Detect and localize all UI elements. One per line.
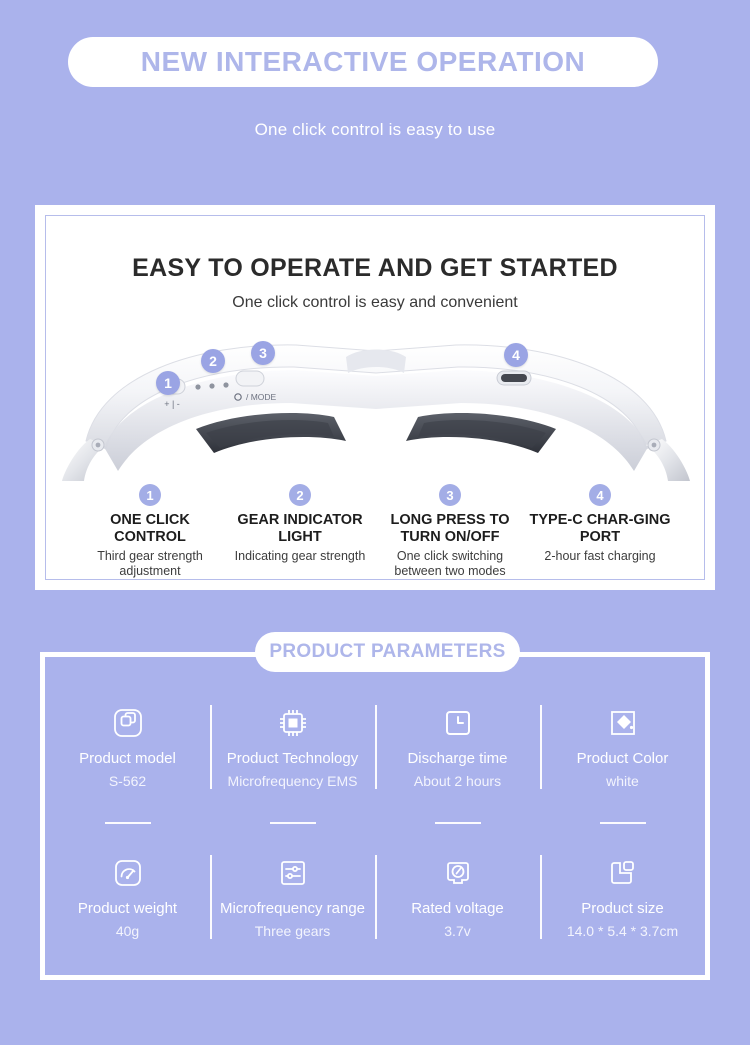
feature-item-one-click-control: 1 ONE CLICK CONTROL Third gear strength … (75, 484, 225, 579)
param-value-product-model: S-562 (109, 773, 146, 789)
param-product-weight: Product weight 40g (45, 822, 210, 972)
param-value-microfrequency-range: Three gears (255, 923, 330, 939)
device-callout-3: 3 (251, 341, 275, 365)
device-illustration: + | - / MODE 1 2 3 4 (46, 321, 704, 481)
feature-card-subtitle: One click control is easy and convenient (46, 294, 704, 312)
feature-item-type-c-port: 4 TYPE-C CHAR-GING PORT 2-hour fast char… (525, 484, 675, 579)
sliders-icon (276, 856, 310, 890)
feature-badge-1: 1 (139, 484, 161, 506)
param-divider-vertical (540, 855, 542, 939)
param-label-discharge-time: Discharge time (407, 750, 507, 767)
param-value-rated-voltage: 3.7v (444, 923, 470, 939)
feature-badge-3: 3 (439, 484, 461, 506)
page-subtitle: One click control is easy to use (0, 120, 750, 140)
feature-title-4: TYPE-C CHAR-GING PORT (525, 512, 675, 545)
feature-desc-3: One click switching between two modes (375, 549, 525, 579)
feature-desc-2: Indicating gear strength (225, 549, 375, 564)
svg-text:+ | -: + | - (164, 399, 180, 409)
param-label-product-color: Product Color (577, 750, 669, 767)
feature-card-title: EASY TO OPERATE AND GET STARTED (46, 254, 704, 283)
copy-layers-icon (111, 706, 145, 740)
param-value-product-technology: Microfrequency EMS (228, 773, 358, 789)
feature-title-2: GEAR INDICATOR LIGHT (225, 512, 375, 545)
param-value-product-weight: 40g (116, 923, 139, 939)
param-divider-vertical (375, 855, 377, 939)
param-value-product-size: 14.0 * 5.4 * 3.7cm (567, 923, 678, 939)
param-discharge-time: Discharge time About 2 hours (375, 672, 540, 822)
param-product-size: Product size 14.0 * 5.4 * 3.7cm (540, 822, 705, 972)
product-parameters-banner: PRODUCT PARAMETERS (255, 632, 520, 672)
feature-desc-4: 2-hour fast charging (525, 549, 675, 564)
device-callout-4: 4 (504, 343, 528, 367)
param-label-product-weight: Product weight (78, 900, 177, 917)
feature-title-1: ONE CLICK CONTROL (75, 512, 225, 545)
cpu-chip-icon (276, 706, 310, 740)
feature-item-long-press-power: 3 LONG PRESS TO TURN ON/OFF One click sw… (375, 484, 525, 579)
param-label-product-technology: Product Technology (227, 750, 358, 767)
device-callout-2: 2 (201, 349, 225, 373)
paint-bucket-icon (606, 706, 640, 740)
device-callout-1: 1 (156, 371, 180, 395)
param-microfrequency-range: Microfrequency range Three gears (210, 822, 375, 972)
param-label-product-size: Product size (581, 900, 664, 917)
param-divider-vertical (210, 705, 212, 789)
param-product-technology: Product Technology Microfrequency EMS (210, 672, 375, 822)
page-title: NEW INTERACTIVE OPERATION (141, 46, 585, 78)
feature-card-inner: EASY TO OPERATE AND GET STARTED One clic… (45, 215, 705, 580)
feature-badge-4: 4 (589, 484, 611, 506)
param-value-discharge-time: About 2 hours (414, 773, 501, 789)
feature-card: EASY TO OPERATE AND GET STARTED One clic… (35, 205, 715, 590)
voltage-meter-icon (441, 856, 475, 890)
param-divider-vertical (375, 705, 377, 789)
feature-list: 1 ONE CLICK CONTROL Third gear strength … (46, 484, 704, 579)
param-label-rated-voltage: Rated voltage (411, 900, 504, 917)
clock-icon (441, 706, 475, 740)
feature-title-3: LONG PRESS TO TURN ON/OFF (375, 512, 525, 545)
page-header-banner: NEW INTERACTIVE OPERATION (68, 37, 658, 87)
feature-item-gear-indicator-light: 2 GEAR INDICATOR LIGHT Indicating gear s… (225, 484, 375, 579)
param-label-microfrequency-range: Microfrequency range (220, 900, 365, 917)
feature-desc-1: Third gear strength adjustment (75, 549, 225, 579)
dimensions-icon (606, 856, 640, 890)
product-parameters-grid: Product model S-562 Product Technology M… (45, 672, 705, 972)
product-parameters-title: PRODUCT PARAMETERS (269, 641, 505, 663)
param-divider-vertical (540, 705, 542, 789)
param-value-product-color: white (606, 773, 639, 789)
param-label-product-model: Product model (79, 750, 176, 767)
svg-text:/ MODE: / MODE (246, 392, 277, 402)
feature-badge-2: 2 (289, 484, 311, 506)
param-rated-voltage: Rated voltage 3.7v (375, 822, 540, 972)
param-product-model: Product model S-562 (45, 672, 210, 822)
param-product-color: Product Color white (540, 672, 705, 822)
param-divider-vertical (210, 855, 212, 939)
gauge-icon (111, 856, 145, 890)
